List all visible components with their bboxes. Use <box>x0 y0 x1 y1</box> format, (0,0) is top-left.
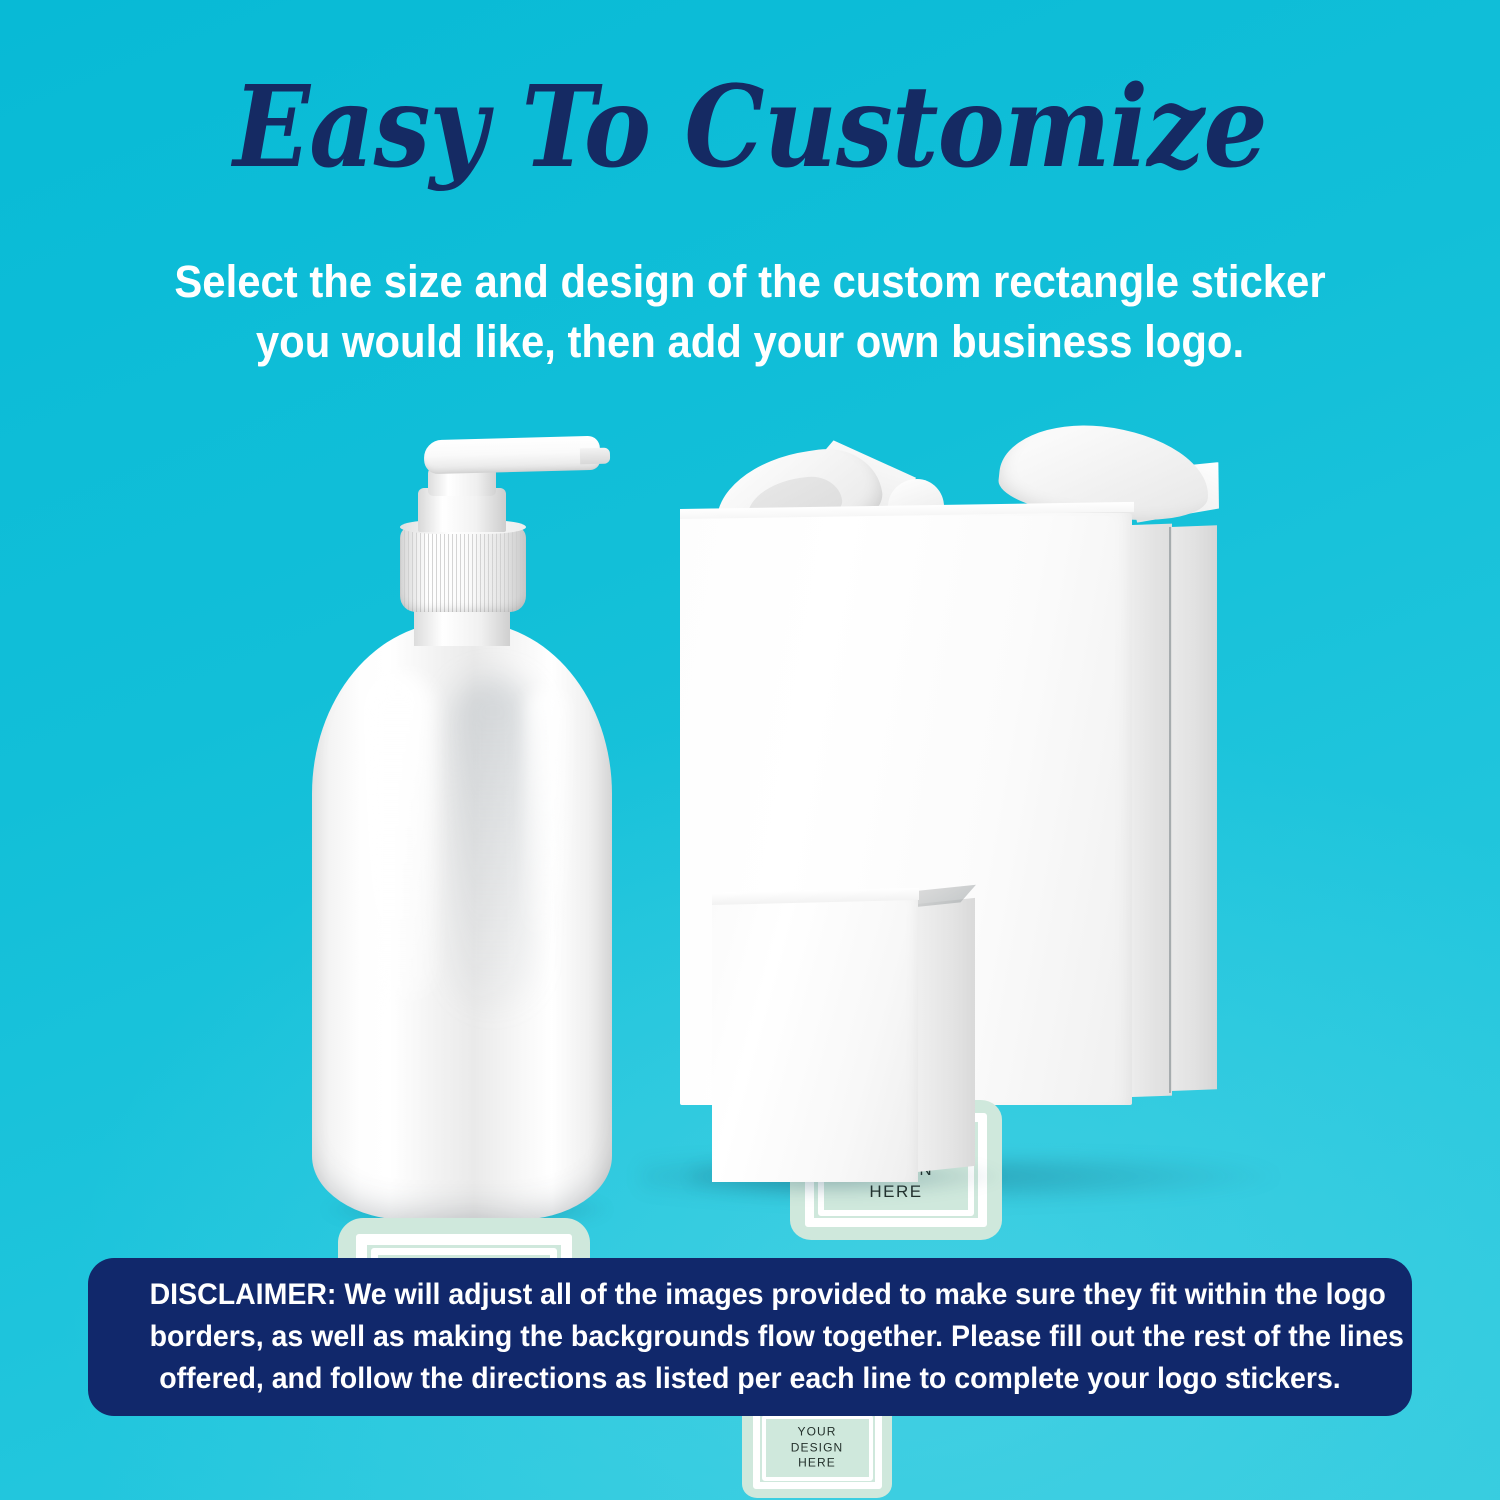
pump-collar <box>400 526 526 612</box>
disclaimer-box: DISCLAIMER: We will adjust all of the im… <box>88 1258 1412 1416</box>
disclaimer-line-1: DISCLAIMER: We will adjust all of the im… <box>150 1274 1351 1316</box>
small-box-right-side <box>917 898 975 1172</box>
gift-box-lid-seam <box>1169 527 1171 1093</box>
subtitle: Select the size and design of the custom… <box>136 252 1364 372</box>
sticker-label-line-2: DESIGN <box>742 1440 892 1456</box>
bottle-highlight-left <box>362 672 434 1002</box>
subtitle-line-2: you would like, then add your own busine… <box>136 312 1364 372</box>
promo-graphic: Easy To Customize Select the size and de… <box>0 0 1500 1500</box>
sticker-label: YOUR DESIGN HERE <box>742 1425 892 1472</box>
disclaimer-line-3: offered, and follow the directions as li… <box>150 1358 1351 1400</box>
gift-box-back-side <box>1171 525 1217 1091</box>
sticker-label-line-3: HERE <box>742 1456 892 1472</box>
bottle-highlight-right <box>526 688 566 938</box>
pump-bottle <box>300 420 640 1220</box>
pump-nozzle-arm[interactable] <box>424 436 601 475</box>
disclaimer-text: DISCLAIMER: We will adjust all of the im… <box>150 1274 1351 1400</box>
product-scene: YOUR DESIGN HERE YOUR DESIGN HERE <box>0 400 1500 1230</box>
sticker-label-line-1: YOUR <box>742 1425 892 1441</box>
pump-nozzle-tip <box>580 448 610 465</box>
gift-box-right-side <box>1132 524 1172 1097</box>
page-title: Easy To Customize <box>75 72 1425 184</box>
disclaimer-line-2: borders, as well as making the backgroun… <box>150 1316 1351 1358</box>
subtitle-line-1: Select the size and design of the custom… <box>136 252 1364 312</box>
bottle-shading <box>450 678 536 1008</box>
small-box <box>712 892 980 1184</box>
small-box-front-face <box>712 898 918 1182</box>
